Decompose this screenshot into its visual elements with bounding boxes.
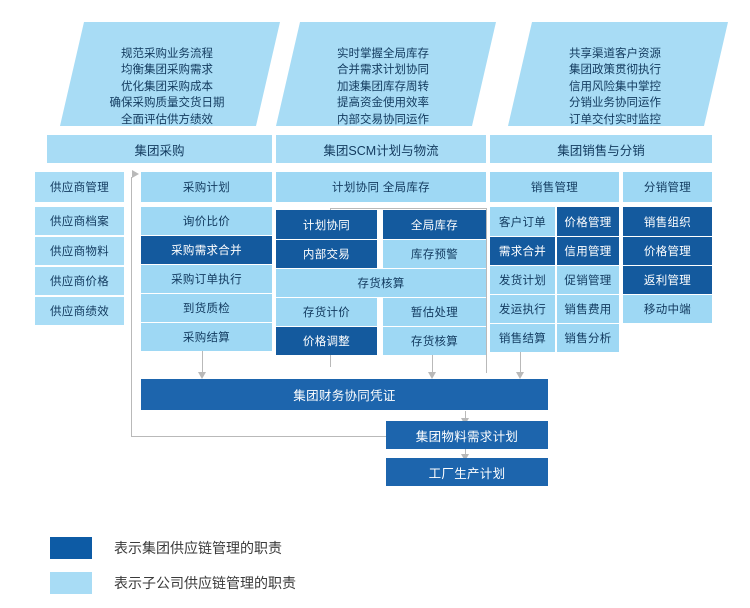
sales-col-a-item-1[interactable]: 需求合并	[490, 237, 555, 265]
scm-row3-cell-1-label: 暂估处理	[411, 304, 458, 320]
sales-col-a-item-0[interactable]: 客户订单	[490, 207, 555, 236]
legend-swatch-group	[50, 537, 92, 559]
connector-sales-arrow	[516, 372, 524, 379]
distribution-column-header-label: 分销管理	[644, 179, 691, 195]
scm-row1-cell-1-label: 全局库存	[411, 217, 458, 233]
legend-swatch-subsidiary	[50, 572, 92, 594]
supplier-item-1[interactable]: 供应商物料	[35, 237, 124, 265]
section-title-procurement-label: 集团采购	[134, 140, 184, 159]
legend-label-subsidiary: 表示子公司供应链管理的职责	[114, 573, 296, 593]
distribution-item-3-label: 移动中端	[644, 301, 691, 317]
section-title-sales-label: 集团销售与分销	[557, 140, 645, 159]
scm-row3-cell-0[interactable]: 存货计价	[276, 298, 377, 326]
distribution-item-1[interactable]: 价格管理	[623, 237, 712, 265]
banner-sales-goals-text: 共享渠道客户资源 集团政策贯彻执行 信用风险集中掌控 分销业务协同运作 订单交付…	[523, 46, 707, 128]
procurement-item-4-label: 采购结算	[183, 329, 230, 345]
sales-col-a-item-0-label: 客户订单	[499, 214, 546, 230]
bottom-bar-factory-production-plan[interactable]: 工厂生产计划	[386, 458, 548, 486]
scm-row4-cell-0[interactable]: 价格调整	[276, 327, 377, 355]
supplier-item-3-label: 供应商绩效	[50, 303, 109, 319]
banner-procurement-goals-text: 规范采购业务流程 均衡集团采购需求 优化集团采购成本 确保采购质量交货日期 全面…	[75, 46, 259, 128]
section-title-scm-label: 集团SCM计划与物流	[323, 140, 438, 159]
sales-col-a-item-3-label: 发运执行	[499, 301, 546, 317]
legend-row-subsidiary: 表示子公司供应链管理的职责	[50, 572, 296, 594]
scm-column-header[interactable]: 计划协同 全局库存	[276, 172, 486, 202]
banner-sales-goals: 共享渠道客户资源 集团政策贯彻执行 信用风险集中掌控 分销业务协同运作 订单交付…	[508, 22, 728, 126]
bottom-bar-finance-voucher-label: 集团财务协同凭证	[293, 385, 395, 404]
connector-scm-arrow	[428, 372, 436, 379]
sales-col-b-item-4-label: 销售分析	[564, 330, 611, 346]
banner-scm-goals: 实时掌握全局库存 合并需求计划协同 加速集团库存周转 提高资金使用效率 内部交易…	[276, 22, 496, 126]
sales-col-a-item-1-label: 需求合并	[499, 243, 546, 259]
connector-supplier-arrow	[132, 170, 139, 178]
sales-col-b-item-1-label: 信用管理	[564, 243, 611, 259]
sales-col-b-item-3-label: 销售费用	[564, 301, 611, 317]
sales-col-a-item-2[interactable]: 发货计划	[490, 266, 555, 294]
connector-sales-vertical	[520, 349, 521, 373]
scm-row1-cell-0[interactable]: 计划协同	[276, 210, 377, 239]
sales-col-a-item-3[interactable]: 发运执行	[490, 295, 555, 323]
procurement-column-header[interactable]: 采购计划	[141, 172, 272, 202]
scm-row4-cell-1-label: 存货核算	[411, 333, 458, 349]
supplier-item-0-label: 供应商档案	[50, 213, 109, 229]
sales-col-a-item-4[interactable]: 销售结算	[490, 324, 555, 352]
procurement-item-3[interactable]: 到货质检	[141, 294, 272, 322]
sales-col-a-item-4-label: 销售结算	[499, 330, 546, 346]
banner-scm-goals-text: 实时掌握全局库存 合并需求计划协同 加速集团库存周转 提高资金使用效率 内部交易…	[291, 46, 475, 128]
bottom-bar-factory-production-plan-label: 工厂生产计划	[429, 463, 506, 482]
distribution-item-2[interactable]: 返利管理	[623, 266, 712, 294]
sales-column-header[interactable]: 销售管理	[490, 172, 619, 202]
procurement-column-header-label: 采购计划	[183, 179, 230, 195]
supplier-column-header-label: 供应商管理	[50, 179, 109, 195]
scm-row2-cell-0-label: 内部交易	[303, 246, 350, 262]
procurement-item-0[interactable]: 询价比价	[141, 207, 272, 235]
sales-col-b-item-4[interactable]: 销售分析	[557, 324, 619, 352]
sales-col-b-item-3[interactable]: 销售费用	[557, 295, 619, 323]
procurement-item-3-label: 到货质检	[183, 300, 230, 316]
supplier-item-1-label: 供应商物料	[50, 243, 109, 259]
supplier-item-0[interactable]: 供应商档案	[35, 207, 124, 235]
connector-scm-top-bracket	[330, 208, 486, 209]
scm-row4-cell-0-label: 价格调整	[303, 333, 350, 349]
sales-column-header-label: 销售管理	[531, 179, 578, 195]
procurement-item-4[interactable]: 采购结算	[141, 323, 272, 351]
scm-row4-cell-1[interactable]: 存货核算	[383, 327, 486, 355]
procurement-item-2-label: 采购订单执行	[171, 271, 242, 287]
banner-procurement-goals: 规范采购业务流程 均衡集团采购需求 优化集团采购成本 确保采购质量交货日期 全面…	[60, 22, 280, 126]
supplier-item-2-label: 供应商价格	[50, 273, 109, 289]
sales-col-b-item-0[interactable]: 价格管理	[557, 207, 619, 236]
connector-supplier-vertical	[131, 177, 132, 436]
section-title-scm: 集团SCM计划与物流	[276, 135, 486, 163]
sales-col-b-item-1[interactable]: 信用管理	[557, 237, 619, 265]
distribution-item-2-label: 返利管理	[644, 272, 691, 288]
scm-row2-cell-1[interactable]: 库存预警	[383, 240, 486, 268]
sales-col-b-item-0-label: 价格管理	[564, 214, 611, 230]
sales-col-a-item-2-label: 发货计划	[499, 272, 546, 288]
distribution-item-0[interactable]: 销售组织	[623, 207, 712, 236]
legend-row-group: 表示集团供应链管理的职责	[50, 537, 282, 559]
bottom-bar-finance-voucher[interactable]: 集团财务协同凭证	[141, 379, 548, 410]
scm-row1-cell-0-label: 计划协同	[303, 217, 350, 233]
scm-row3-cell-1[interactable]: 暂估处理	[383, 298, 486, 326]
distribution-item-0-label: 销售组织	[644, 214, 691, 230]
scm-row2-cell-0[interactable]: 内部交易	[276, 240, 377, 268]
section-title-sales: 集团销售与分销	[490, 135, 712, 163]
scm-row1-cell-1[interactable]: 全局库存	[383, 210, 486, 239]
procurement-item-0-label: 询价比价	[183, 213, 230, 229]
connector-procurement-vertical	[202, 349, 203, 373]
scm-row3-cell-0-label: 存货计价	[303, 304, 350, 320]
distribution-column-header[interactable]: 分销管理	[623, 172, 712, 202]
procurement-item-2[interactable]: 采购订单执行	[141, 265, 272, 293]
scm-column-header-label: 计划协同 全局库存	[332, 179, 430, 195]
connector-procurement-arrow	[198, 372, 206, 379]
procurement-item-1[interactable]: 采购需求合并	[141, 236, 272, 264]
connector-supplier-horizontal	[131, 436, 386, 437]
distribution-item-3[interactable]: 移动中端	[623, 295, 712, 323]
legend-label-group: 表示集团供应链管理的职责	[114, 538, 282, 558]
scm-subheader[interactable]: 存货核算	[276, 269, 486, 297]
scm-subheader-label: 存货核算	[357, 275, 404, 291]
sales-col-b-item-2[interactable]: 促销管理	[557, 266, 619, 294]
bottom-bar-material-requirement-plan-label: 集团物料需求计划	[416, 426, 518, 445]
supplier-item-3[interactable]: 供应商绩效	[35, 297, 124, 325]
distribution-item-1-label: 价格管理	[644, 243, 691, 259]
bottom-bar-material-requirement-plan[interactable]: 集团物料需求计划	[386, 421, 548, 449]
supplier-column-header[interactable]: 供应商管理	[35, 172, 124, 202]
procurement-item-1-label: 采购需求合并	[171, 242, 242, 258]
scm-row2-cell-1-label: 库存预警	[411, 246, 458, 262]
connector-sales-rail-vertical	[486, 208, 487, 373]
sales-col-b-item-2-label: 促销管理	[564, 272, 611, 288]
supplier-item-2[interactable]: 供应商价格	[35, 267, 124, 295]
section-title-procurement: 集团采购	[47, 135, 272, 163]
